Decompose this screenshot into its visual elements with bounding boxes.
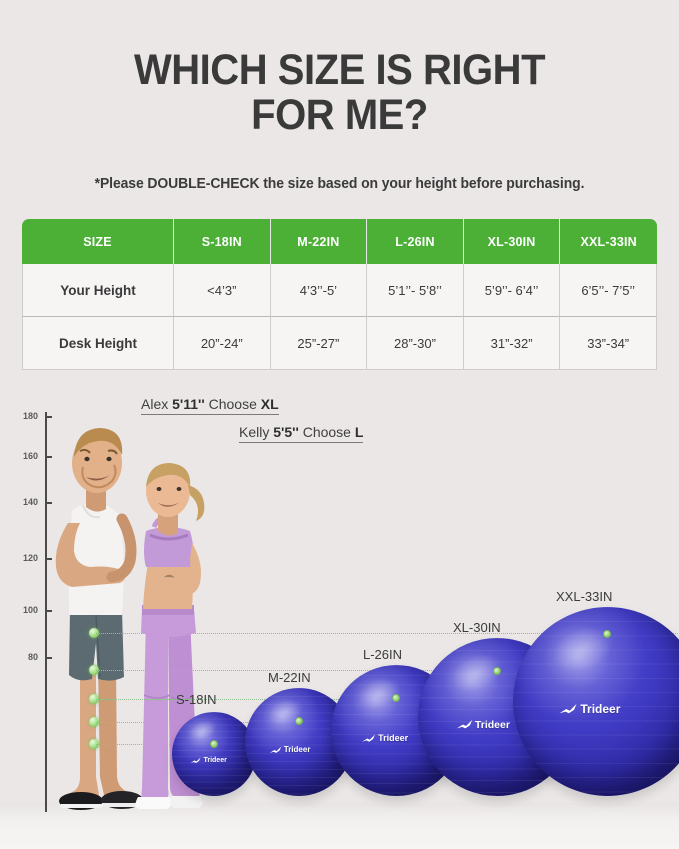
ball-label-s: S-18IN — [176, 692, 216, 707]
cell-height-xl: 5’9’’- 6’4’’ — [464, 264, 561, 317]
alex-size: XL — [261, 396, 279, 412]
title-line-1: WHICH SIZE IS RIGHT — [24, 48, 655, 93]
apex-dot-l — [392, 694, 400, 702]
annotation-alex: Alex 5'11'' Choose XL — [141, 396, 279, 415]
table-header-l: L-26IN — [367, 219, 464, 264]
y-label-160: 160 — [8, 451, 38, 461]
apex-dot-m — [295, 717, 303, 725]
cell-height-l: 5’1’’- 5’8’’ — [367, 264, 464, 317]
page-title: WHICH SIZE IS RIGHT FOR ME? — [0, 48, 679, 138]
trideer-deer-icon — [558, 703, 578, 715]
brand-name: Trideer — [284, 745, 311, 754]
table-header-xl: XL-30IN — [464, 219, 561, 264]
kelly-height: 5'5'' — [273, 424, 299, 440]
cell-desk-l: 28”-30” — [367, 317, 464, 370]
alex-height: 5'11'' — [172, 396, 205, 412]
table-row: Desk Height 20”-24” 25”-27” 28”-30” 31”-… — [22, 317, 657, 370]
table-header-m: M-22IN — [271, 219, 368, 264]
brand-name: Trideer — [475, 719, 510, 731]
brand-name: Trideer — [203, 757, 226, 764]
trideer-logo: Trideer — [558, 702, 620, 716]
size-comparison-chart: 180 160 140 120 100 80 — [0, 392, 679, 849]
brand-name: Trideer — [378, 733, 408, 743]
y-axis-line — [45, 412, 47, 812]
brand-name: Trideer — [580, 702, 620, 716]
row-label-your-height: Your Height — [22, 264, 174, 317]
alex-choose: Choose — [209, 396, 257, 412]
table-row: Your Height <4’3” 4’3’’-5’ 5’1’’- 5’8’’ … — [22, 264, 657, 317]
ball-label-xl: XL-30IN — [453, 620, 501, 635]
annotation-kelly: Kelly 5'5'' Choose L — [239, 424, 363, 443]
trideer-logo: Trideer — [361, 733, 408, 743]
cell-desk-xl: 31”-32” — [464, 317, 561, 370]
y-label-100: 100 — [8, 605, 38, 615]
ball-label-l: L-26IN — [363, 647, 402, 662]
alex-name: Alex — [141, 396, 168, 412]
cell-height-xxl: 6’5’’- 7’5’’ — [560, 264, 657, 317]
cell-desk-s: 20”-24” — [174, 317, 271, 370]
apex-dot-xxl — [603, 630, 611, 638]
trideer-logo: Trideer — [269, 745, 311, 754]
table-header-size: SIZE — [22, 219, 174, 264]
y-label-180: 180 — [8, 411, 38, 421]
trideer-logo: Trideer — [190, 757, 226, 764]
title-line-2: FOR ME? — [24, 93, 655, 138]
table-header-row: SIZE S-18IN M-22IN L-26IN XL-30IN XXL-33… — [22, 219, 657, 264]
cell-desk-m: 25”-27” — [271, 317, 368, 370]
trideer-deer-icon — [190, 757, 201, 764]
kelly-name: Kelly — [239, 424, 269, 440]
trideer-deer-icon — [456, 719, 473, 730]
size-chart-table: SIZE S-18IN M-22IN L-26IN XL-30IN XXL-33… — [22, 219, 657, 370]
subtitle-note: *Please DOUBLE-CHECK the size based on y… — [10, 176, 669, 192]
apex-dot-s — [210, 740, 218, 748]
row-label-desk-height: Desk Height — [22, 317, 174, 370]
kelly-size: L — [355, 424, 364, 440]
table-header-xxl: XXL-33IN — [560, 219, 657, 264]
cell-height-s: <4’3” — [174, 264, 271, 317]
kelly-choose: Choose — [303, 424, 351, 440]
y-label-140: 140 — [8, 497, 38, 507]
cell-desk-xxl: 33”-34” — [560, 317, 657, 370]
apex-dot-xl — [493, 667, 501, 675]
table-header-s: S-18IN — [174, 219, 271, 264]
ball-label-xxl: XXL-33IN — [556, 589, 612, 604]
ball-label-m: M-22IN — [268, 670, 311, 685]
y-label-80: 80 — [8, 652, 38, 662]
ball-s-18in[interactable]: Trideer — [172, 712, 256, 796]
trideer-deer-icon — [269, 746, 282, 754]
trideer-deer-icon — [361, 734, 376, 743]
ball-sphere — [172, 712, 256, 796]
cell-height-m: 4’3’’-5’ — [271, 264, 368, 317]
y-label-120: 120 — [8, 553, 38, 563]
trideer-logo: Trideer — [456, 719, 510, 731]
